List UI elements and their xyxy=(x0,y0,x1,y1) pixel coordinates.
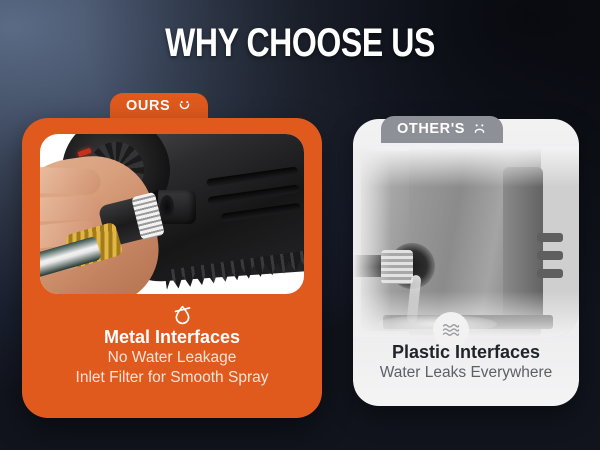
photo-shape xyxy=(40,167,101,196)
ours-heading: Metal Interfaces xyxy=(22,326,322,348)
photo-shape xyxy=(40,195,103,222)
photo-shape xyxy=(537,269,563,278)
ours-line-1: No Water Leakage xyxy=(22,348,322,368)
photo-shape xyxy=(206,166,298,187)
others-line-1: Water Leaks Everywhere xyxy=(353,363,579,383)
photo-shape xyxy=(207,184,299,205)
others-badge: OTHER'S xyxy=(381,116,503,143)
ours-badge-label: OURS xyxy=(126,98,170,114)
page-title: WHY CHOOSE US xyxy=(60,21,540,65)
ours-photo xyxy=(40,134,304,294)
photo-shape xyxy=(537,233,563,242)
others-photo xyxy=(353,147,579,337)
sad-face-icon xyxy=(472,121,487,136)
ours-caption: Metal Interfaces No Water Leakage Inlet … xyxy=(22,326,322,388)
photo-shape xyxy=(164,250,304,290)
happy-face-icon xyxy=(177,98,192,113)
no-water-drop-glyph xyxy=(172,304,193,325)
others-caption: Plastic Interfaces Water Leaks Everywher… xyxy=(353,341,579,383)
water-waves-glyph xyxy=(441,320,461,340)
photo-shape xyxy=(221,203,301,222)
others-heading: Plastic Interfaces xyxy=(353,341,579,363)
photo-shape xyxy=(537,251,563,260)
ours-badge: OURS xyxy=(110,93,208,120)
others-badge-label: OTHER'S xyxy=(397,121,465,137)
ours-line-2: Inlet Filter for Smooth Spray xyxy=(22,368,322,388)
